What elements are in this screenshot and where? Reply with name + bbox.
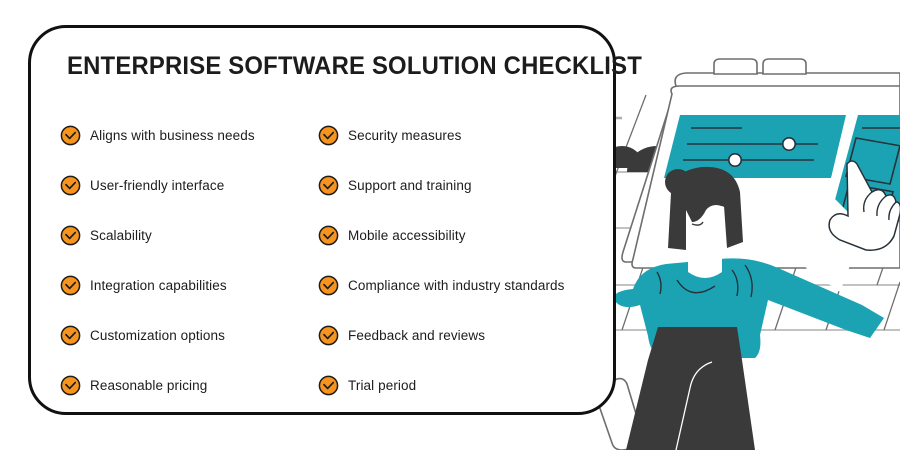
checklist-left-column: Aligns with business needs User-friendly… xyxy=(60,110,318,410)
check-circle-icon xyxy=(60,175,81,196)
slider-handle-bottom[interactable] xyxy=(729,154,741,166)
check-circle-icon xyxy=(60,275,81,296)
list-item-label: Aligns with business needs xyxy=(90,128,255,143)
list-item-label: Integration capabilities xyxy=(90,278,227,293)
list-item[interactable]: Feedback and reviews xyxy=(318,310,598,360)
list-item[interactable]: Scalability xyxy=(60,210,318,260)
list-item-label: Scalability xyxy=(90,228,152,243)
check-circle-icon xyxy=(318,125,339,146)
check-circle-icon xyxy=(318,175,339,196)
check-circle-icon xyxy=(60,375,81,396)
page-title: ENTERPRISE SOFTWARE SOLUTION CHECKLIST xyxy=(67,52,642,81)
slider-handle-top[interactable] xyxy=(783,138,795,150)
list-item[interactable]: Mobile accessibility xyxy=(318,210,598,260)
list-item[interactable]: Aligns with business needs xyxy=(60,110,318,160)
list-item-label: Compliance with industry standards xyxy=(348,278,565,293)
list-item[interactable]: Support and training xyxy=(318,160,598,210)
list-item[interactable]: Integration capabilities xyxy=(60,260,318,310)
list-item-label: Reasonable pricing xyxy=(90,378,207,393)
list-item[interactable]: Security measures xyxy=(318,110,598,160)
screenshot-stage: ENTERPRISE SOFTWARE SOLUTION CHECKLIST A… xyxy=(0,0,900,450)
list-item[interactable]: User-friendly interface xyxy=(60,160,318,210)
check-circle-icon xyxy=(318,275,339,296)
list-item-label: Security measures xyxy=(348,128,462,143)
list-item-label: Support and training xyxy=(348,178,472,193)
checklist-card: ENTERPRISE SOFTWARE SOLUTION CHECKLIST A… xyxy=(28,25,616,415)
check-circle-icon xyxy=(318,325,339,346)
list-item[interactable]: Customization options xyxy=(60,310,318,360)
teal-slider-panel[interactable] xyxy=(664,115,846,178)
list-item-label: Trial period xyxy=(348,378,416,393)
list-item-label: Feedback and reviews xyxy=(348,328,485,343)
tablet-top-tabs xyxy=(714,59,806,74)
check-circle-icon xyxy=(60,125,81,146)
list-item-label: User-friendly interface xyxy=(90,178,224,193)
check-circle-icon xyxy=(318,225,339,246)
list-item-label: Mobile accessibility xyxy=(348,228,466,243)
list-item[interactable]: Trial period xyxy=(318,360,598,410)
list-item[interactable]: Compliance with industry standards xyxy=(318,260,598,310)
person-hair-bun xyxy=(665,169,691,195)
check-circle-icon xyxy=(60,325,81,346)
list-item[interactable]: Reasonable pricing xyxy=(60,360,318,410)
checklist-columns: Aligns with business needs User-friendly… xyxy=(31,110,613,410)
check-circle-icon xyxy=(60,225,81,246)
check-circle-icon xyxy=(318,375,339,396)
list-item-label: Customization options xyxy=(90,328,225,343)
checklist-right-column: Security measures Support and training M… xyxy=(318,110,598,410)
